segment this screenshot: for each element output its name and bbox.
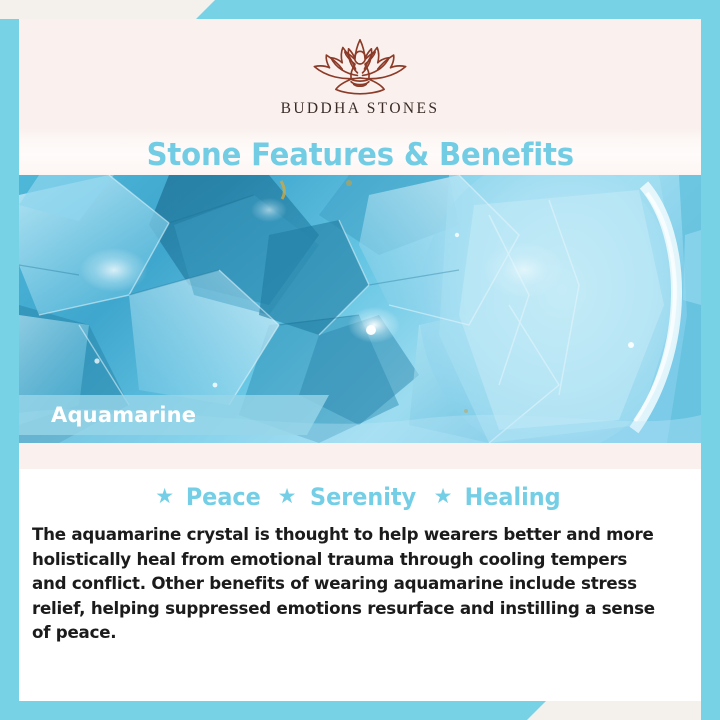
decor-band-bottom — [0, 701, 546, 720]
content-card: BUDDHA STONES Stone Features & Benefits — [19, 19, 701, 701]
stone-name-ribbon: Aquamarine — [19, 395, 329, 435]
star-icon: ★ — [278, 486, 297, 507]
benefit-keyword-row: ★ Peace ★ Serenity ★ Healing — [23, 483, 697, 511]
benefit-label-serenity: Serenity — [309, 483, 415, 511]
benefit-label-healing: Healing — [465, 483, 561, 511]
description-panel: ★ Peace ★ Serenity ★ Healing The aquamar… — [19, 469, 701, 701]
brand-wordmark: BUDDHA STONES — [281, 100, 440, 118]
title-banner: Stone Features & Benefits — [19, 129, 701, 181]
stone-name-label: Aquamarine — [51, 403, 196, 427]
photo-divider — [19, 443, 701, 469]
benefit-label-peace: Peace — [186, 483, 261, 511]
decor-band-top — [196, 0, 720, 19]
lotus-meditation-figure-icon — [296, 31, 424, 97]
decor-band-left — [0, 19, 19, 720]
benefit-item-serenity: ★ Serenity — [278, 483, 420, 511]
stone-description-text: The aquamarine crystal is thought to hel… — [32, 523, 665, 646]
page-title: Stone Features & Benefits — [146, 137, 573, 173]
brand-header: BUDDHA STONES — [19, 19, 701, 131]
poster-root: BUDDHA STONES Stone Features & Benefits — [0, 0, 720, 720]
decor-band-right — [701, 0, 720, 720]
benefit-item-peace: ★ Peace — [155, 483, 263, 511]
aquamarine-crystal-photo: Aquamarine — [19, 175, 701, 443]
star-icon: ★ — [155, 486, 174, 507]
benefit-item-healing: ★ Healing — [434, 483, 565, 511]
star-icon: ★ — [434, 486, 453, 507]
